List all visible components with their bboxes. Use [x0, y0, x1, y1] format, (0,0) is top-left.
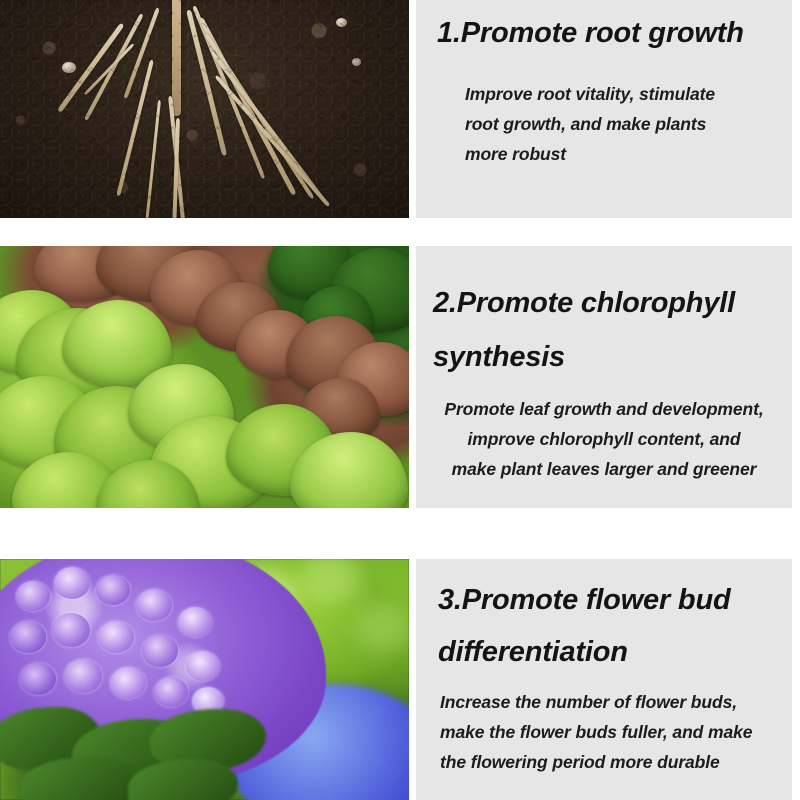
hydrangea-floret	[142, 635, 178, 667]
benefit-body-line: Promote leaf growth and development,	[424, 394, 784, 424]
benefit-body-line: make the flower buds fuller, and make	[440, 717, 752, 747]
infographic-page: 1.Promote root growth Improve root vital…	[0, 0, 800, 800]
hydrangea-floret	[178, 607, 212, 637]
lettuce-crop-photo	[0, 246, 409, 508]
benefit-body-line: the flowering period more durable	[440, 747, 752, 777]
benefit-body-line: more robust	[465, 139, 715, 169]
benefit-heading-3-cont: differentiation	[438, 635, 628, 669]
benefit-heading-2: 2.Promote chlorophyll	[433, 286, 735, 320]
benefit-body-line: improve chlorophyll content, and	[424, 424, 784, 454]
hydrangea-floret	[20, 663, 56, 695]
hydrangea-floret	[110, 667, 146, 699]
benefit-text-panel-1: 1.Promote root growth Improve root vital…	[416, 0, 792, 218]
hydrangea-floret	[136, 589, 172, 621]
benefit-body-line: Improve root vitality, stimulate	[465, 79, 715, 109]
hydrangea-floret	[64, 659, 102, 693]
benefit-body-2: Promote leaf growth and development, imp…	[424, 394, 784, 484]
benefit-section-3: 3.Promote flower bud differentiation Inc…	[0, 559, 800, 800]
benefit-text-panel-3: 3.Promote flower bud differentiation Inc…	[416, 559, 792, 800]
roots-in-soil-photo	[0, 0, 409, 218]
hydrangea-bloom-photo	[0, 559, 409, 800]
benefit-heading-line: 3.Promote flower bud	[438, 584, 730, 616]
benefit-text-panel-2: 2.Promote chlorophyll synthesis Promote …	[416, 246, 792, 508]
hydrangea-floret	[10, 621, 46, 653]
benefit-heading-3: 3.Promote flower bud	[438, 583, 730, 617]
benefit-body-line: make plant leaves larger and greener	[424, 454, 784, 484]
benefit-body-1: Improve root vitality, stimulate root gr…	[465, 79, 715, 169]
benefit-heading-2-cont: synthesis	[433, 340, 565, 374]
hydrangea-floret	[96, 575, 130, 605]
hydrangea-floret	[186, 651, 220, 681]
hydrangea-floret	[154, 677, 188, 707]
benefit-heading-line: 2.Promote chlorophyll	[433, 287, 735, 319]
hydrangea-floret	[16, 581, 50, 611]
benefit-section-1: 1.Promote root growth Improve root vital…	[0, 0, 800, 218]
benefit-heading-line: synthesis	[433, 341, 565, 373]
benefit-heading-line: differentiation	[438, 636, 628, 668]
benefit-body-line: Increase the number of flower buds,	[440, 687, 752, 717]
benefit-body-line: root growth, and make plants	[465, 109, 715, 139]
hydrangea-floret	[98, 621, 134, 653]
hydrangea-floret	[52, 613, 90, 647]
benefit-body-3: Increase the number of flower buds, make…	[440, 687, 752, 777]
hydrangea-floret	[54, 567, 90, 599]
bokeh-highlight	[356, 605, 409, 651]
soil-grain-texture	[0, 0, 409, 218]
benefit-section-2: 2.Promote chlorophyll synthesis Promote …	[0, 246, 800, 508]
benefit-heading-1: 1.Promote root growth	[437, 16, 744, 50]
